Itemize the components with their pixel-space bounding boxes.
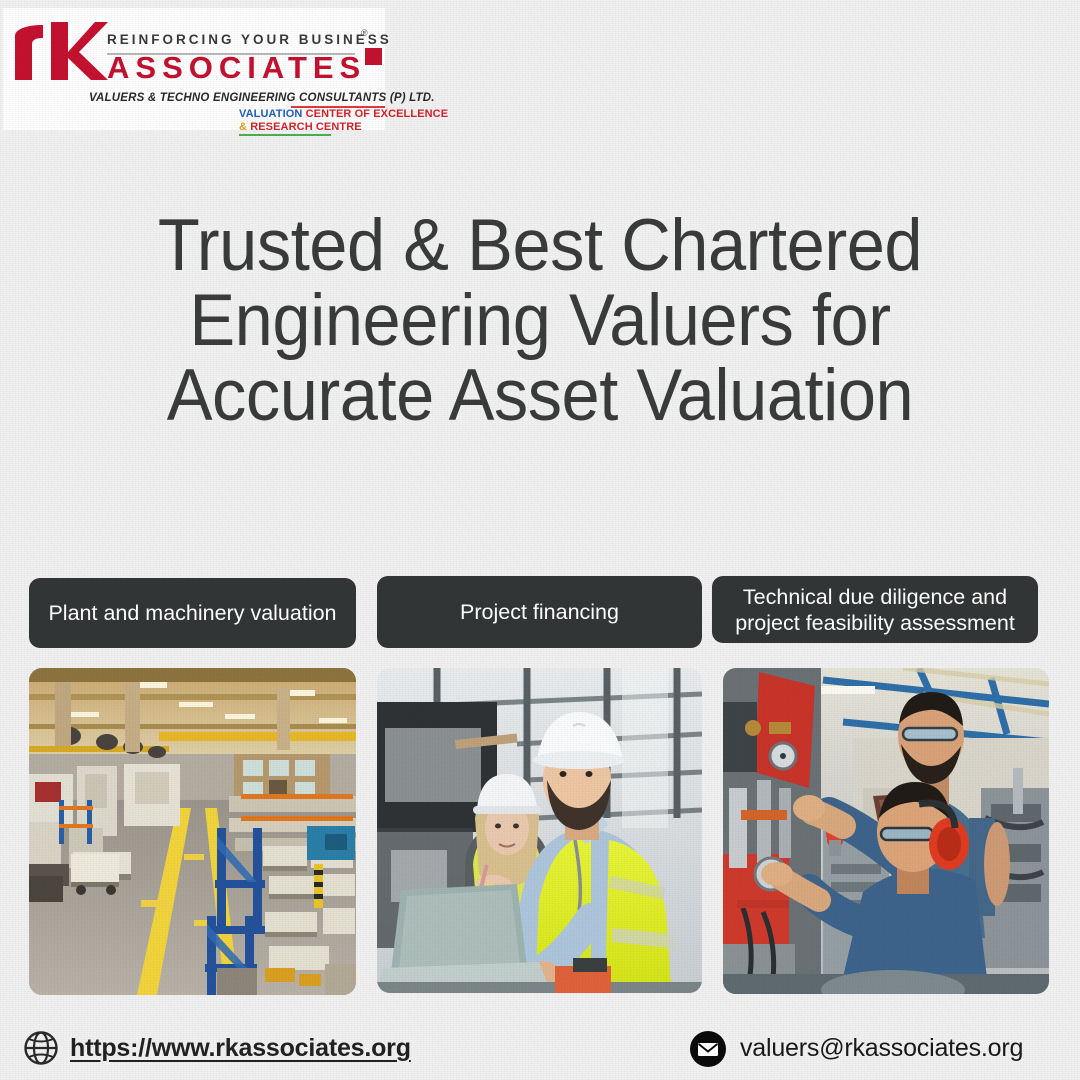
envelope-icon — [690, 1031, 726, 1067]
globe-icon — [22, 1029, 60, 1067]
website-link[interactable]: https://www.rkassociates.org — [70, 1034, 411, 1063]
email-address[interactable]: valuers@rkassociates.org — [740, 1034, 1023, 1063]
contact-footer: https://www.rkassociates.org valuers@rka… — [0, 0, 1080, 1080]
